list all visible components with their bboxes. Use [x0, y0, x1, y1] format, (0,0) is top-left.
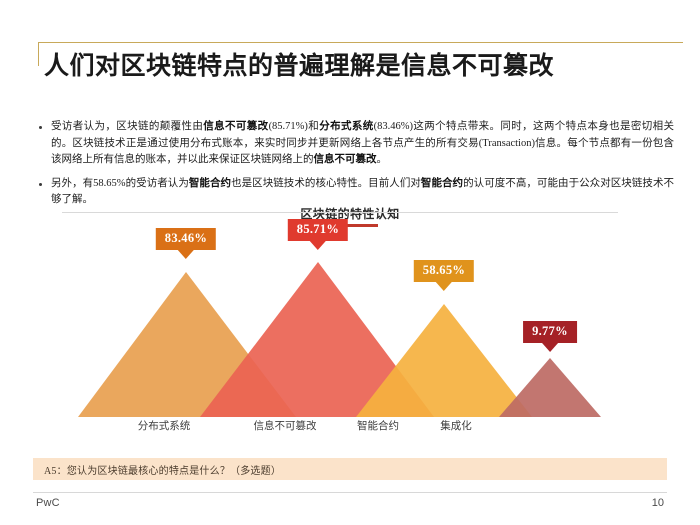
title-tick	[38, 42, 39, 66]
category-label-3: 集成化	[440, 418, 472, 433]
category-label-1: 信息不可篡改	[254, 418, 317, 433]
value-callout-tail-1	[310, 241, 326, 250]
survey-question-note: A5：您认为区块链最核心的特点是什么？（多选题）	[33, 458, 667, 480]
slide-root: 人们对区块链特点的普遍理解是信息不可篡改 受访者认为，区块链的颠覆性由信息不可篡…	[0, 0, 700, 525]
value-callout-3: 9.77%	[523, 321, 577, 352]
category-label-2: 智能合约	[357, 418, 399, 433]
chart-axis-line	[62, 212, 618, 213]
value-callout-label-1: 85.71%	[288, 219, 348, 241]
mountain-3	[499, 358, 601, 417]
page-number: 10	[652, 497, 664, 509]
value-callout-1: 85.71%	[288, 219, 348, 250]
bullet-item-2: 另外，有58.65%的受访者认为智能合约也是区块链技术的核心特性。目前人们对智能…	[36, 176, 674, 209]
bullet-item-1: 受访者认为，区块链的颠覆性由信息不可篡改(85.71%)和分布式系统(83.46…	[36, 119, 674, 169]
value-callout-label-3: 9.77%	[523, 321, 577, 343]
value-callout-tail-0	[178, 250, 194, 259]
brand-logo: PwC	[36, 497, 60, 509]
value-callout-tail-2	[436, 282, 452, 291]
bullet-list: 受访者认为，区块链的颠覆性由信息不可篡改(85.71%)和分布式系统(83.46…	[36, 119, 674, 216]
survey-question-text: A5：您认为区块链最核心的特点是什么？（多选题）	[44, 462, 281, 477]
chart-category-labels: 分布式系统 信息不可篡改 智能合约 集成化	[0, 418, 700, 438]
footer-rule	[33, 492, 667, 493]
category-label-0: 分布式系统	[138, 418, 191, 433]
value-callout-0: 83.46%	[156, 228, 216, 259]
value-callout-label-2: 58.65%	[414, 260, 474, 282]
page-title: 人们对区块链特点的普遍理解是信息不可篡改	[44, 46, 674, 82]
value-callout-label-0: 83.46%	[156, 228, 216, 250]
value-callout-2: 58.65%	[414, 260, 474, 291]
value-callout-tail-3	[542, 343, 558, 352]
title-rule	[38, 42, 683, 43]
